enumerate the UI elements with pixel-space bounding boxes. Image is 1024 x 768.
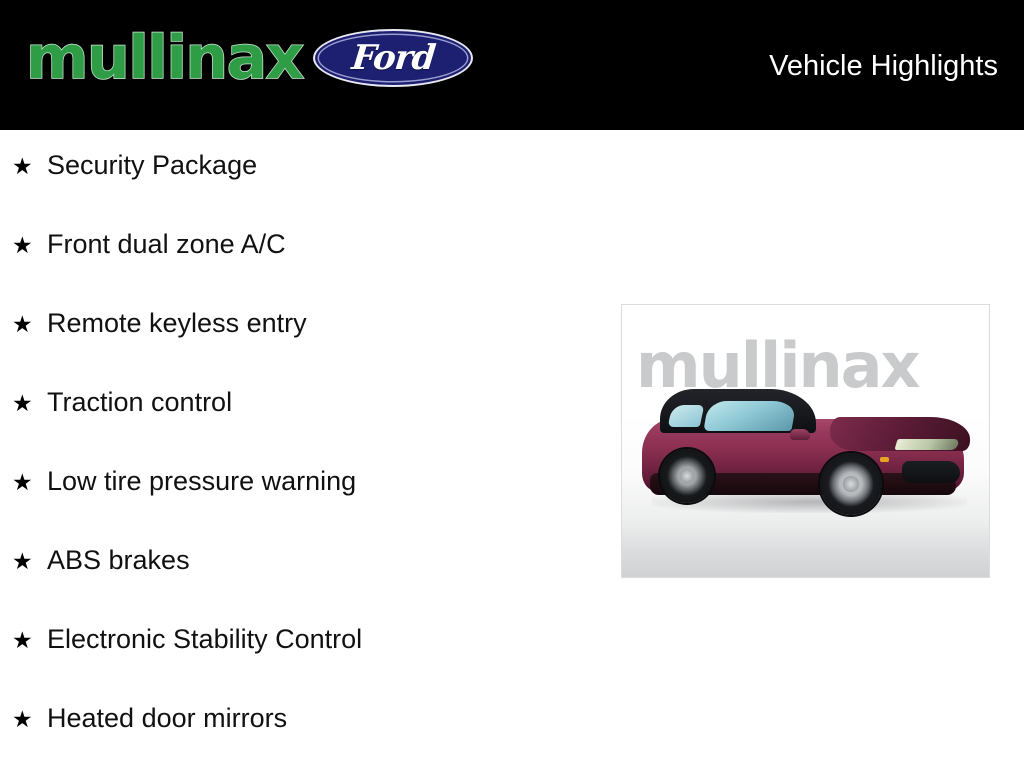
highlight-label: Traction control [47, 389, 232, 416]
page-title: Vehicle Highlights [769, 50, 998, 83]
star-icon: ★ [12, 629, 47, 652]
list-item: ★ Front dual zone A/C [12, 231, 612, 310]
car-side-marker [880, 457, 889, 462]
car-front-grille [902, 461, 960, 483]
star-icon: ★ [12, 155, 47, 178]
star-icon: ★ [12, 550, 47, 573]
page-header: mullinax Ford Vehicle Highlights [0, 0, 1024, 130]
list-item: ★ Low tire pressure warning [12, 468, 612, 547]
star-icon: ★ [12, 234, 47, 257]
wheel-hub [680, 469, 694, 483]
star-icon: ★ [12, 392, 47, 415]
car-windshield [703, 401, 796, 431]
car-side-mirror [790, 429, 810, 440]
ford-badge-label: Ford [349, 38, 436, 78]
star-icon: ★ [12, 313, 47, 336]
ford-oval-icon: Ford [313, 29, 473, 87]
star-icon: ★ [12, 708, 47, 731]
highlight-label: Security Package [47, 152, 257, 179]
list-item: ★ Heated door mirrors [12, 705, 612, 768]
mullinax-wordmark: mullinax [26, 28, 303, 88]
list-item: ★ Remote keyless entry [12, 310, 612, 389]
highlight-label: Electronic Stability Control [47, 626, 362, 653]
highlight-label: ABS brakes [47, 547, 190, 574]
dealer-logo[interactable]: mullinax Ford [26, 28, 473, 88]
highlight-label: Front dual zone A/C [47, 231, 286, 258]
list-item: ★ ABS brakes [12, 547, 612, 626]
vehicle-highlights-list: ★ Security Package ★ Front dual zone A/C… [12, 152, 612, 768]
highlight-label: Low tire pressure warning [47, 468, 356, 495]
vehicle-highlights-page: mullinax Ford Vehicle Highlights ★ Secur… [0, 0, 1024, 768]
vehicle-photo[interactable]: mullinax [621, 304, 990, 578]
car-illustration [634, 373, 982, 523]
car-headlight [894, 439, 959, 450]
list-item: ★ Security Package [12, 152, 612, 231]
car-rear-wheel [660, 449, 714, 503]
list-item: ★ Traction control [12, 389, 612, 468]
star-icon: ★ [12, 471, 47, 494]
highlight-label: Heated door mirrors [47, 705, 287, 732]
highlight-label: Remote keyless entry [47, 310, 307, 337]
list-item: ★ Electronic Stability Control [12, 626, 612, 705]
wheel-hub [843, 476, 859, 492]
car-front-wheel [820, 453, 882, 515]
